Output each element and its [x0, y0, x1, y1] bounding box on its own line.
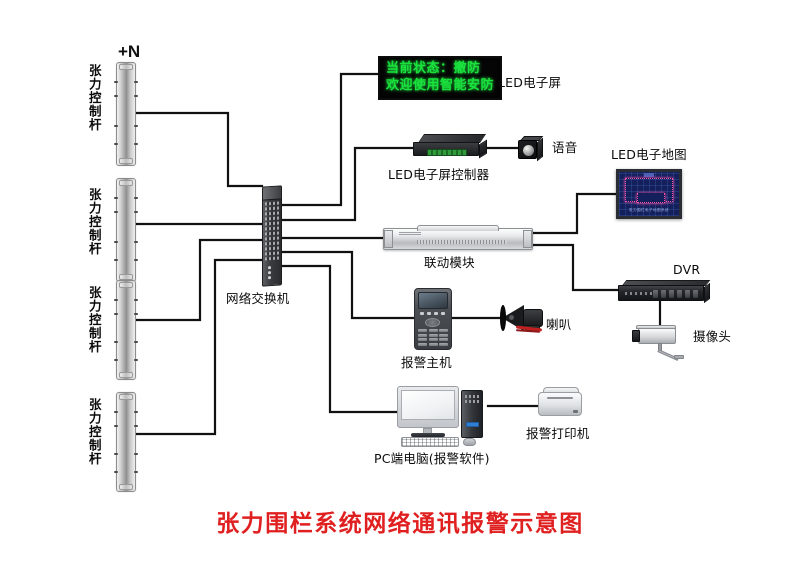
horn-mouth [500, 305, 506, 331]
pole-nub [114, 81, 118, 83]
led-display-line2: 欢迎使用智能安防 [386, 78, 494, 95]
alarm-host-label: 报警主机 [401, 356, 452, 370]
tension-pole-1-label: 张力控制杆 [86, 64, 101, 132]
pole-cap-bottom [119, 158, 133, 164]
siren-horn-device[interactable] [502, 303, 550, 333]
pole-nub [134, 299, 138, 301]
linkage-port-strip [417, 240, 507, 244]
wire-pole3-switch [134, 240, 262, 320]
linkage-front-marking [399, 231, 421, 235]
pc-tower[interactable] [461, 390, 483, 438]
network-switch[interactable] [262, 185, 282, 286]
tension-pole-1[interactable] [116, 62, 136, 166]
pole-nub [134, 81, 138, 83]
pole-nub [114, 313, 118, 315]
pole-nub [134, 453, 138, 455]
led-display-screen[interactable]: 当前状态：撤防 欢迎使用智能安防 [378, 56, 502, 100]
tension-pole-3[interactable] [116, 280, 136, 380]
switch-port-row [265, 212, 279, 216]
camera-barrel [638, 328, 676, 344]
alarm-printer-device[interactable] [538, 386, 584, 418]
alarm-host-dpad[interactable] [425, 318, 440, 327]
switch-port-row [265, 232, 279, 236]
alarm-host-device[interactable] [414, 288, 452, 350]
pole-nub [134, 259, 138, 261]
pole-nub [114, 453, 118, 455]
voice-module-device[interactable] [518, 136, 544, 160]
pole-nub [134, 471, 138, 473]
led-controller-device[interactable] [413, 134, 487, 160]
wire-pole4-switch [134, 260, 262, 434]
pole-nub [134, 341, 138, 343]
pc-tower-drive-bay [465, 400, 479, 403]
wire-linkage-ledmap [533, 194, 616, 233]
tension-pole-2[interactable] [116, 178, 136, 282]
switch-port-row [265, 257, 279, 261]
diagram-canvas: +N 张力控制杆 张力控制杆 [0, 0, 800, 579]
pole-nub [114, 241, 118, 243]
wire-switch-pc [282, 266, 397, 412]
pole-nub [134, 313, 138, 315]
controller-terminal-block [427, 149, 467, 156]
pole-nub [114, 143, 118, 145]
pc-workstation[interactable] [397, 386, 493, 448]
printer-paper-slot [547, 397, 573, 399]
pole-cap-bottom [119, 372, 133, 378]
pc-tower-drive-bay [465, 395, 479, 398]
map-top-chip [644, 173, 654, 177]
dvr-front-markings [625, 292, 655, 295]
pc-mouse[interactable] [463, 438, 476, 446]
led-map-label: LED电子地图 [611, 148, 687, 162]
pole-nub [114, 299, 118, 301]
pole-cap-top [119, 64, 133, 70]
led-controller-label: LED电子屏控制器 [388, 168, 489, 182]
pole-nub [114, 359, 118, 361]
switch-port-row [265, 227, 279, 231]
controller-side-face [479, 140, 487, 159]
horn-center-dot [509, 315, 514, 320]
tension-pole-2-label: 张力控制杆 [86, 188, 101, 256]
alarm-host-indicator-leds [420, 312, 445, 315]
voice-module-label: 语音 [552, 141, 577, 155]
linkage-rack-ear-left [384, 230, 393, 248]
switch-port-row [265, 247, 279, 251]
voice-speaker-cube [518, 140, 537, 159]
pole-nub [134, 359, 138, 361]
tension-pole-4[interactable] [116, 392, 136, 492]
camera-lens [632, 330, 640, 342]
switch-port-row [265, 242, 279, 246]
plus-n-label: +N [118, 42, 140, 62]
dvr-front-buttons[interactable] [653, 290, 698, 298]
pc-monitor[interactable] [397, 386, 459, 428]
wire-pole1-switch [134, 113, 262, 186]
pole-nub [114, 125, 118, 127]
pole-nub [114, 95, 118, 97]
linkage-rack-ear-right [523, 230, 532, 248]
pc-keyboard[interactable] [401, 437, 459, 447]
pole-nub [134, 241, 138, 243]
horn-label: 喇叭 [546, 318, 571, 332]
pole-cap-top [119, 180, 133, 186]
wire-switch-ledscreen [282, 74, 378, 205]
security-camera-device[interactable] [632, 322, 690, 362]
pole-nub [134, 411, 138, 413]
pole-nub [134, 211, 138, 213]
printer-button[interactable] [573, 410, 578, 413]
dvr-side-face [704, 283, 710, 303]
tension-pole-4-label: 张力控制杆 [86, 398, 101, 466]
pc-label: PC端电脑(报警软件) [374, 452, 490, 466]
wire-switch-ledcontroller [282, 148, 413, 220]
wire-switch-alarmhost [282, 252, 414, 318]
dvr-front-panel [618, 285, 704, 301]
pole-nub [114, 425, 118, 427]
pole-nub [134, 425, 138, 427]
pole-nub [114, 259, 118, 261]
camera-bracket-base [674, 355, 684, 359]
linkage-module-device[interactable] [383, 228, 533, 250]
map-caption: 张力围栏电子地图系统 [619, 208, 679, 213]
horn-red-wire [516, 329, 540, 333]
pole-nub [114, 197, 118, 199]
pole-nub [134, 143, 138, 145]
switch-port-row [265, 252, 279, 256]
pole-nub [114, 471, 118, 473]
camera-label: 摄像头 [693, 330, 731, 344]
dvr-device[interactable] [618, 280, 710, 302]
wire-linkage-dvr [533, 245, 618, 290]
switch-port-row [265, 222, 279, 226]
voice-side-face [537, 138, 543, 162]
led-display-label: LED电子屏 [498, 76, 561, 90]
dvr-label: DVR [673, 263, 700, 277]
switch-status-leds [268, 266, 271, 279]
network-switch-label: 网络交换机 [226, 292, 290, 306]
pc-monitor-screen [401, 390, 455, 420]
linkage-module-label: 联动模块 [424, 256, 475, 270]
switch-port-row [265, 217, 279, 221]
pole-nub [134, 197, 138, 199]
switch-port-row [265, 237, 279, 241]
diagram-title: 张力围栏系统网络通讯报警示意图 [0, 504, 800, 538]
switch-port-row [265, 202, 279, 206]
pole-nub [134, 125, 138, 127]
linkage-top-bump [417, 225, 499, 231]
pole-cap-bottom [119, 484, 133, 490]
led-electronic-map[interactable]: 张力围栏电子地图系统 [616, 169, 682, 219]
switch-port-row [265, 207, 279, 211]
pole-nub [134, 95, 138, 97]
switch-top-face [263, 186, 281, 200]
pole-nub [114, 341, 118, 343]
printer-label: 报警打印机 [526, 427, 590, 441]
led-display-line1: 当前状态：撤防 [386, 61, 494, 78]
alarm-host-screen [418, 292, 448, 309]
pole-cap-top [119, 394, 133, 400]
pole-cap-top [119, 282, 133, 288]
map-gate-notch [637, 193, 665, 203]
tension-pole-3-label: 张力控制杆 [86, 286, 101, 354]
pole-nub [114, 411, 118, 413]
pc-tower-front-panel [466, 422, 479, 427]
alarm-host-keypad[interactable] [418, 329, 448, 346]
pole-nub [114, 211, 118, 213]
